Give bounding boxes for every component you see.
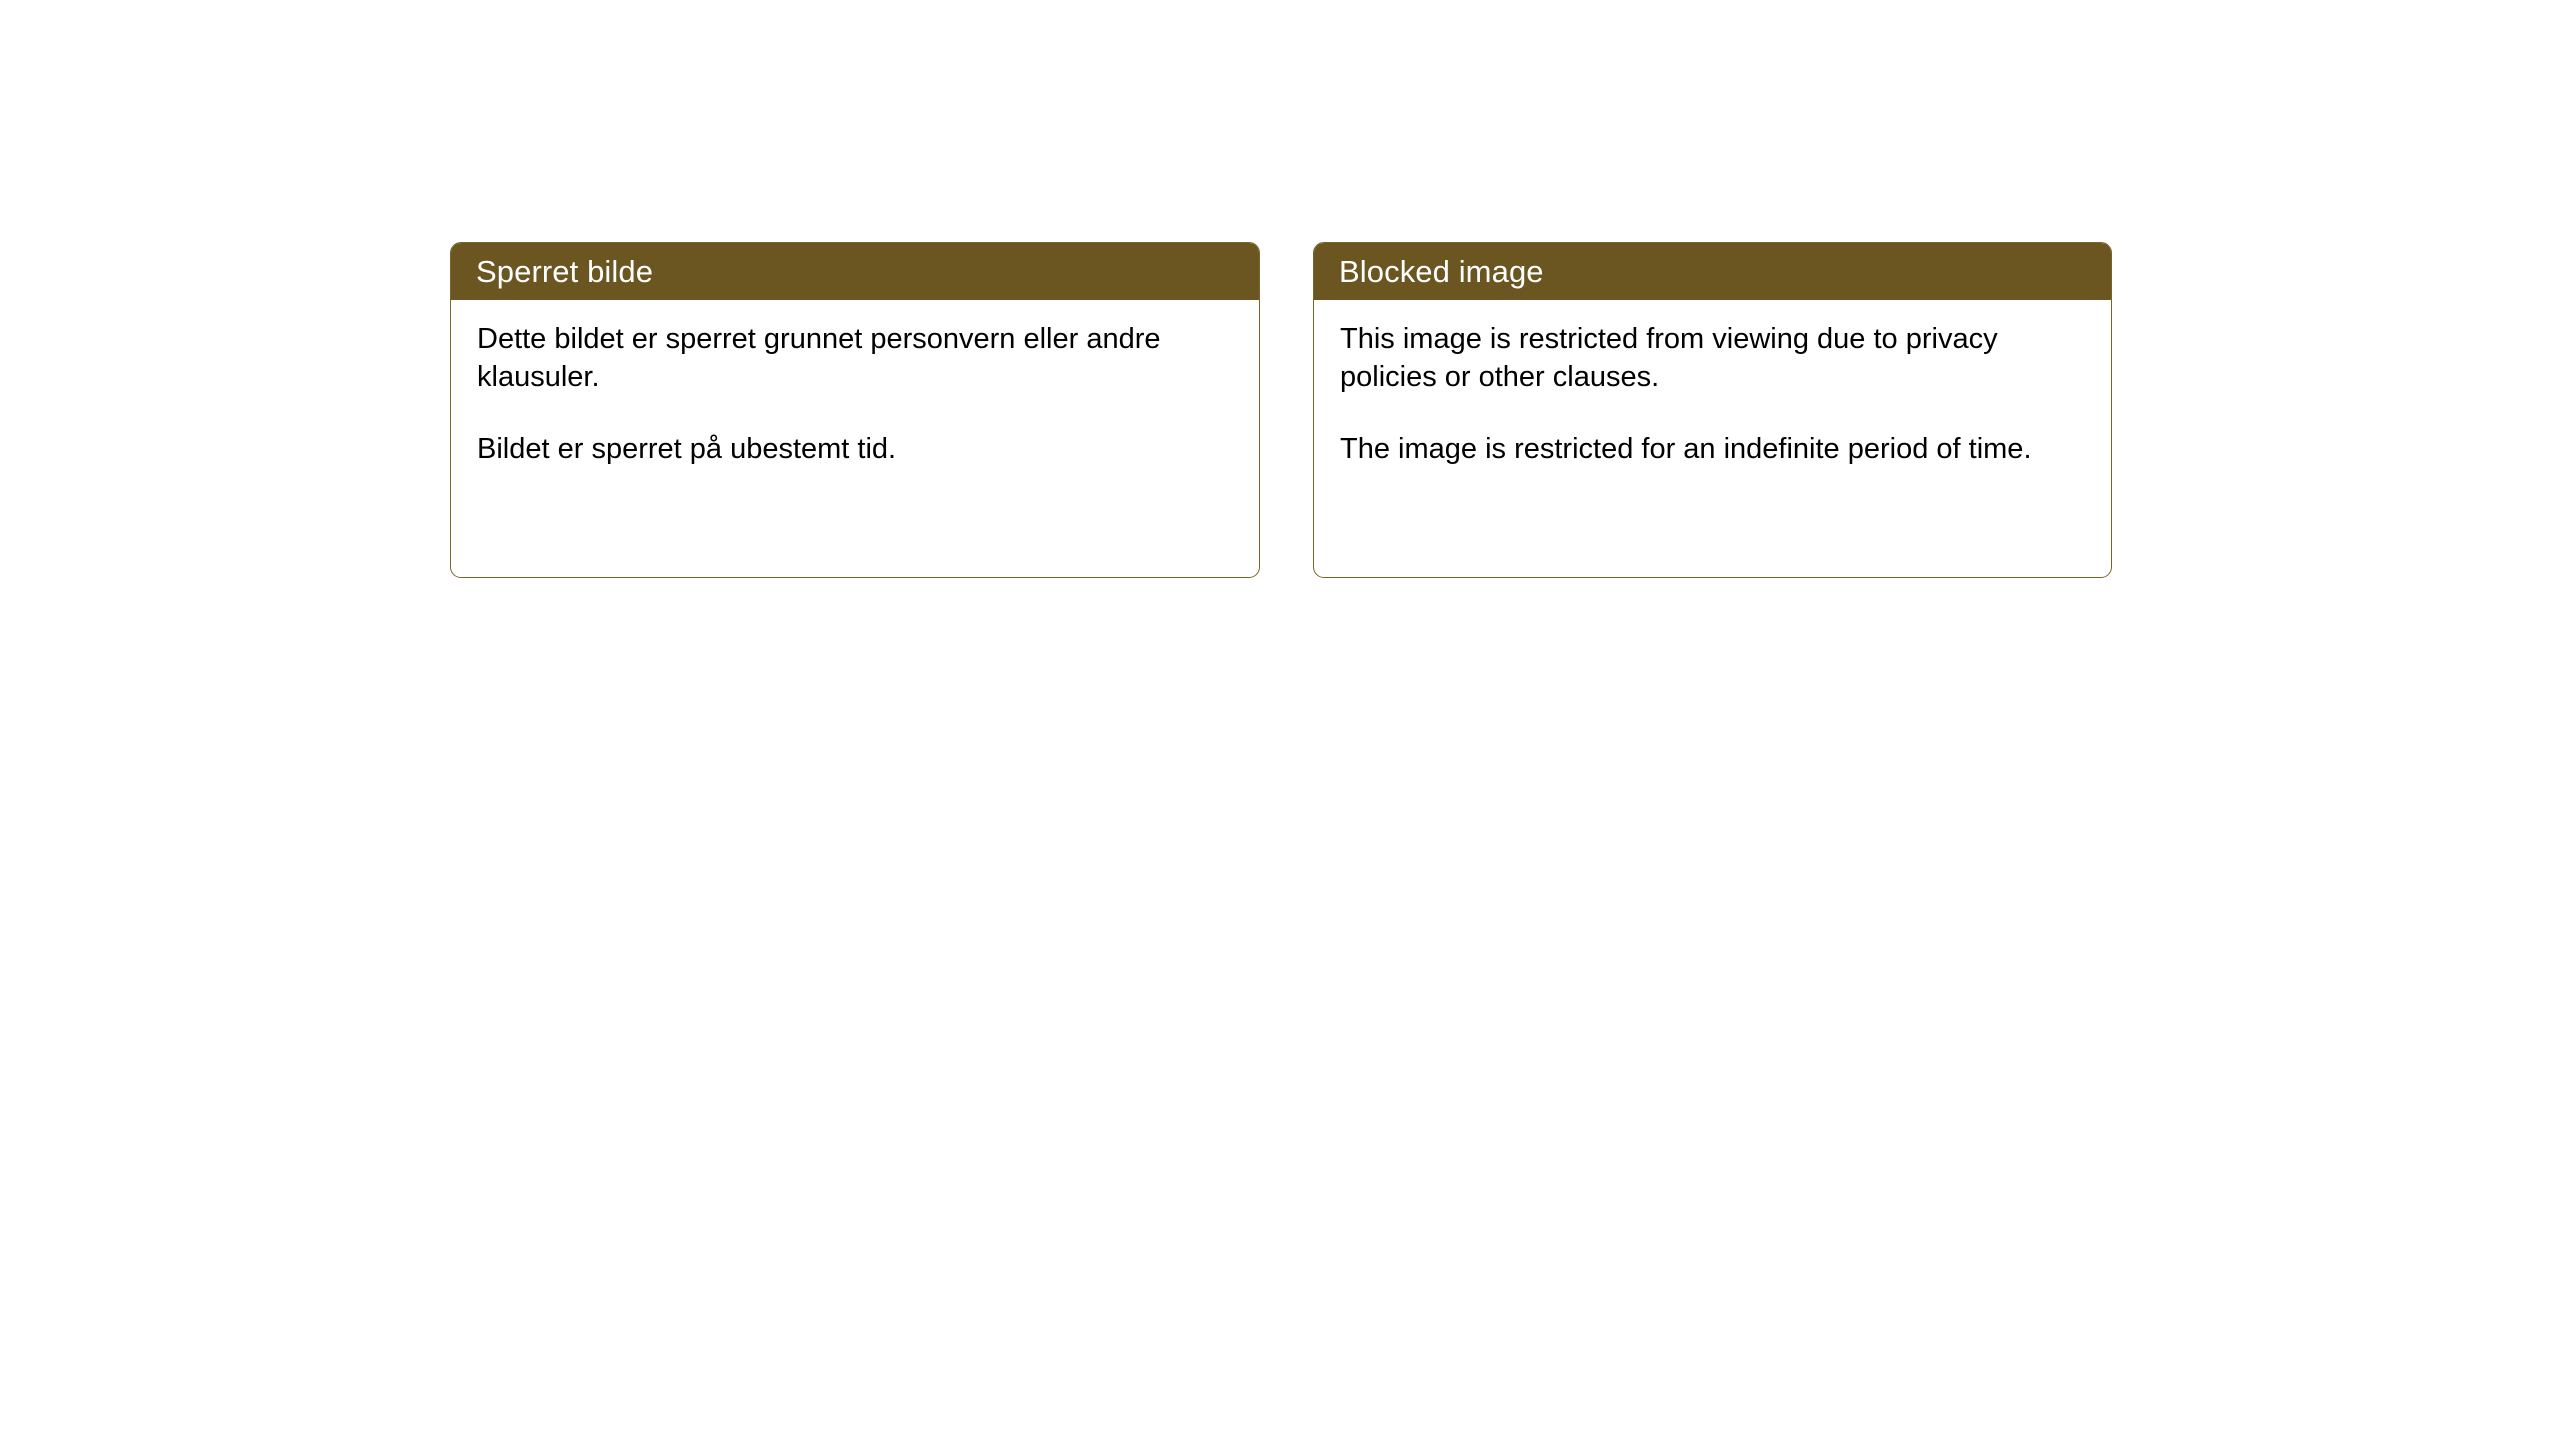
card-paragraph-secondary-norwegian: Bildet er sperret på ubestemt tid.: [477, 430, 1235, 468]
blocked-image-card-english: Blocked image This image is restricted f…: [1313, 242, 2112, 578]
blocked-image-notice-area: Sperret bilde Dette bildet er sperret gr…: [450, 242, 2112, 578]
card-header-norwegian: Sperret bilde: [450, 242, 1260, 300]
paragraph-spacer: [477, 397, 1235, 430]
card-paragraph-secondary-english: The image is restricted for an indefinit…: [1340, 430, 2087, 468]
card-body-english: This image is restricted from viewing du…: [1314, 300, 2111, 577]
card-body-norwegian: Dette bildet er sperret grunnet personve…: [451, 300, 1259, 577]
paragraph-spacer: [1340, 397, 2087, 430]
card-header-english: Blocked image: [1313, 242, 2112, 300]
card-paragraph-primary-english: This image is restricted from viewing du…: [1340, 320, 2087, 397]
card-paragraph-primary-norwegian: Dette bildet er sperret grunnet personve…: [477, 320, 1235, 397]
card-title-english: Blocked image: [1339, 256, 1544, 287]
blocked-image-card-norwegian: Sperret bilde Dette bildet er sperret gr…: [450, 242, 1260, 578]
card-title-norwegian: Sperret bilde: [476, 256, 653, 287]
